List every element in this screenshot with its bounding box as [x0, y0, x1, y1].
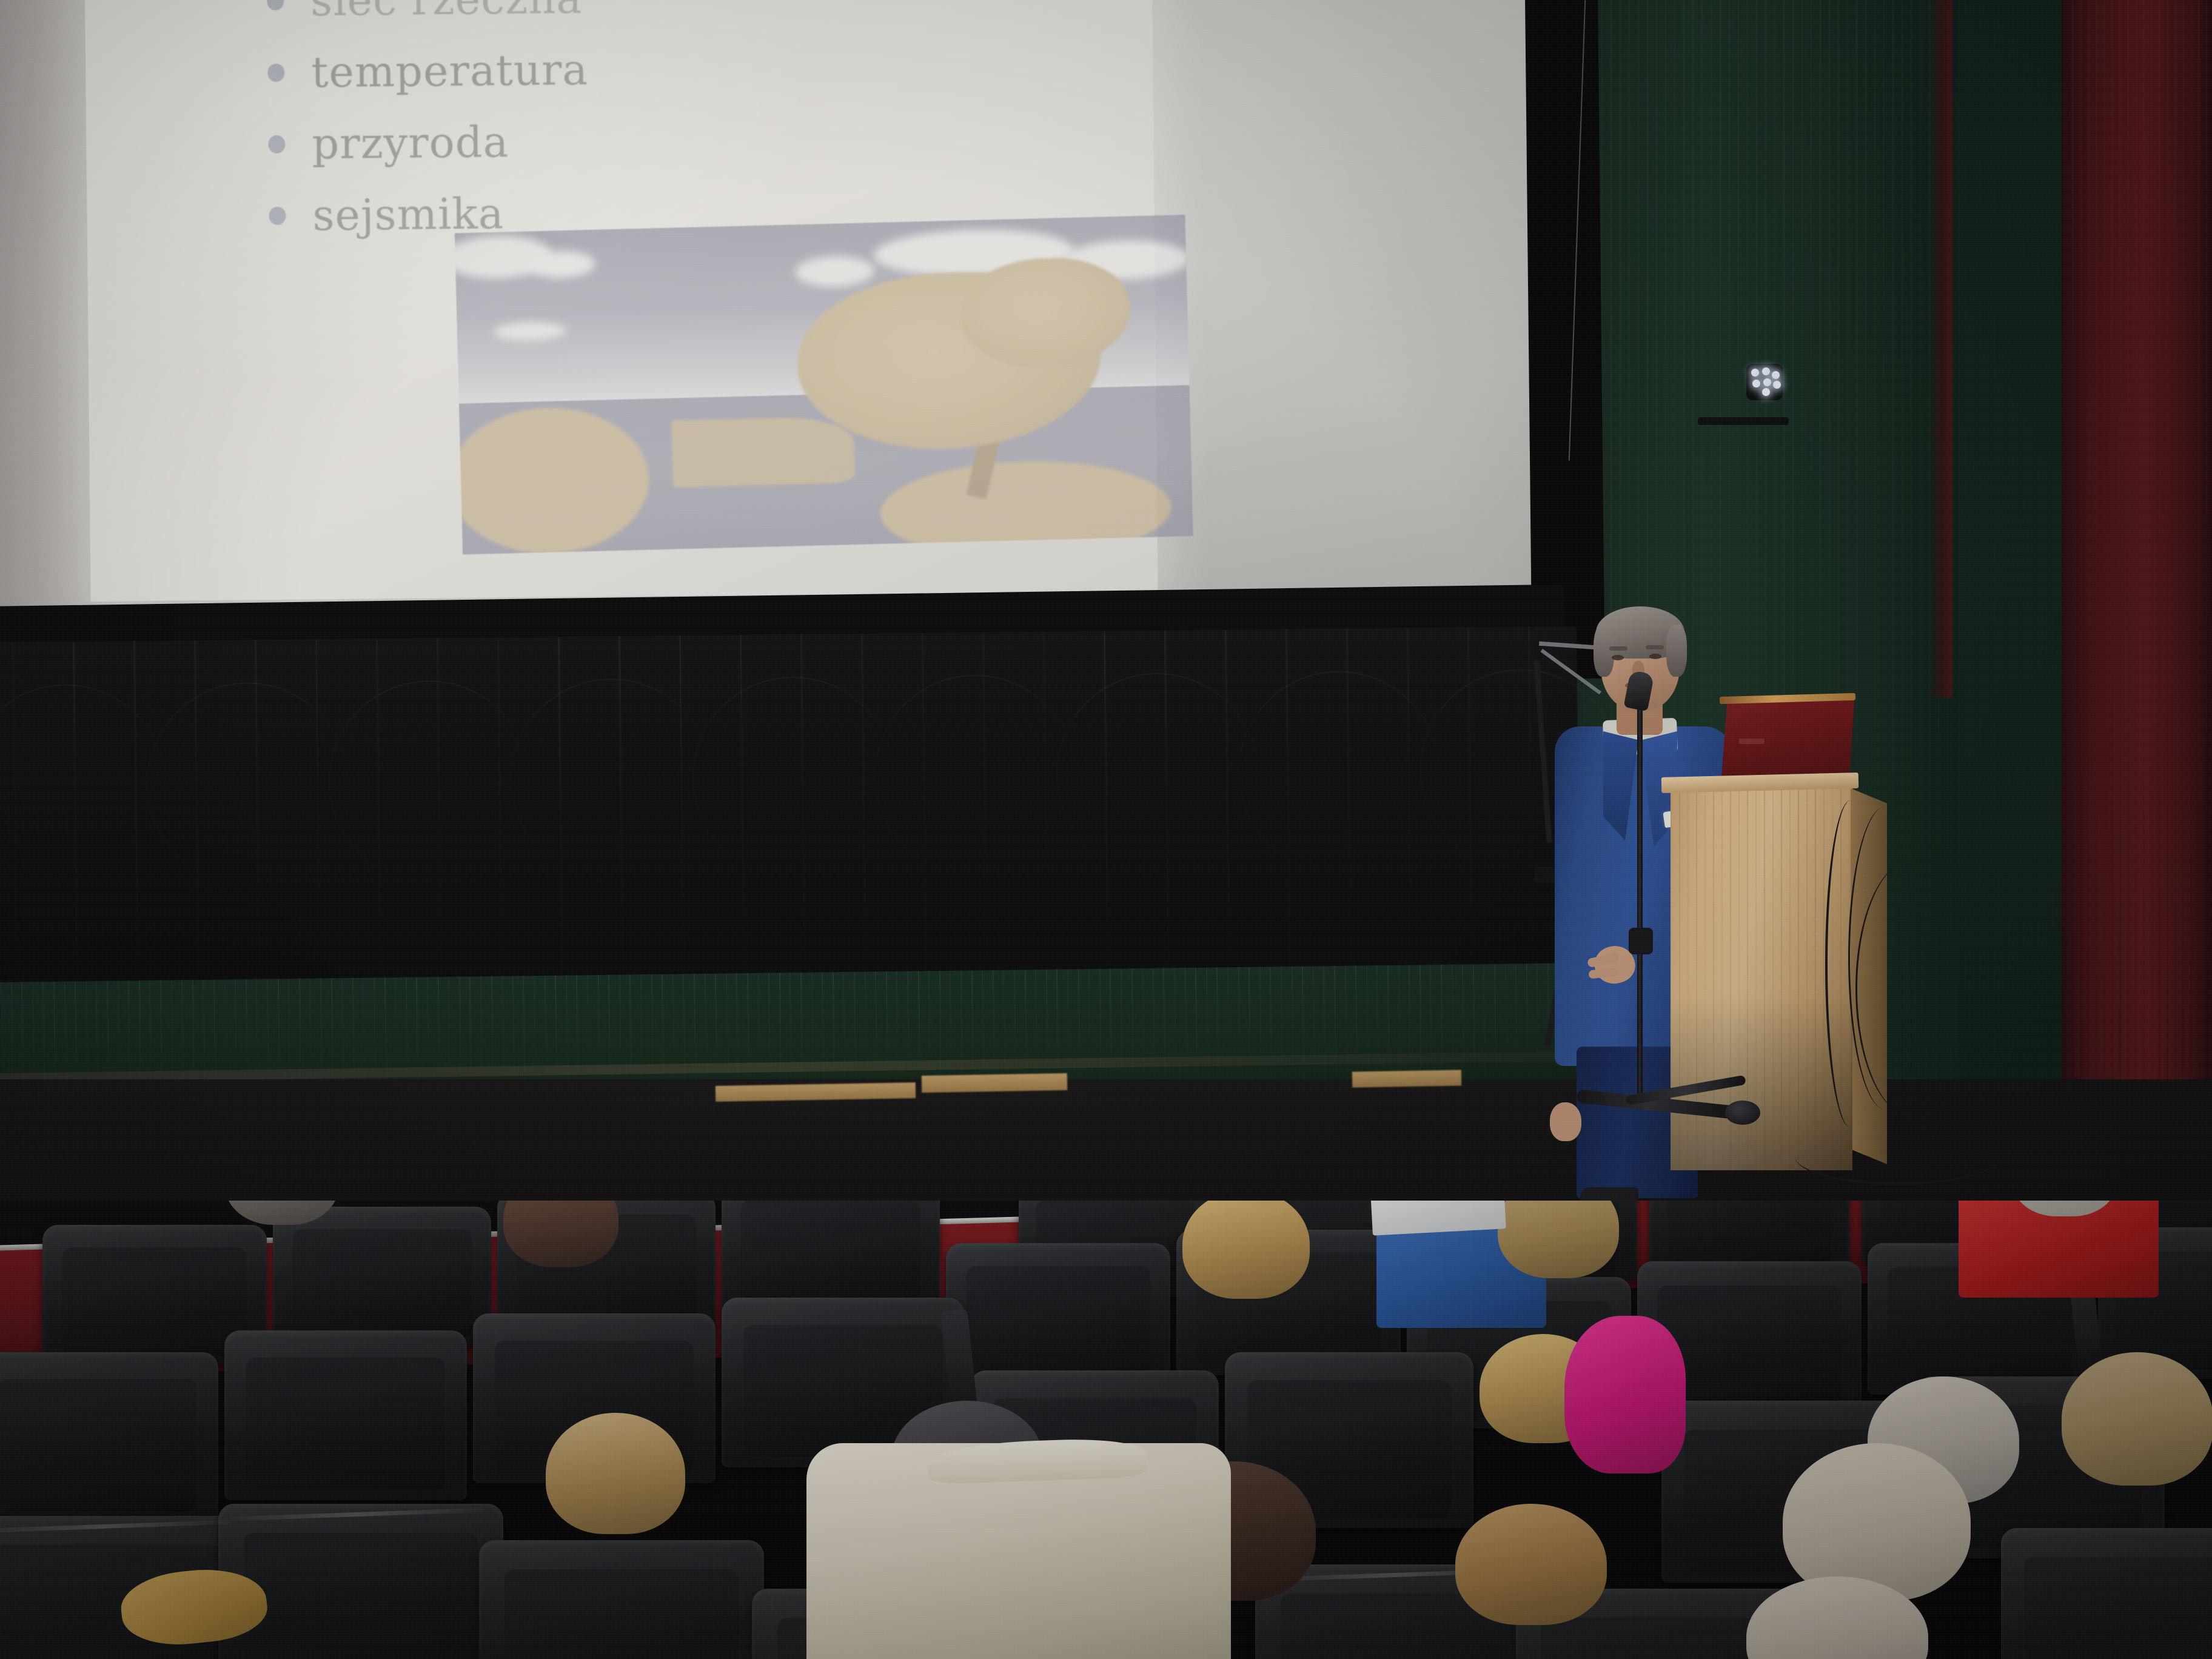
bullet-label: sejsmika [312, 189, 504, 240]
speaker-eyebrow [1609, 646, 1627, 651]
audience-pink-headscarf [1564, 1316, 1686, 1473]
audience-head [1182, 1201, 1310, 1299]
audience-head [1783, 1443, 1971, 1601]
speaker-hair-side [1666, 625, 1687, 677]
seat[interactable] [946, 1243, 1170, 1389]
texture-line [1798, 782, 1799, 1170]
list-item: temperatura [267, 31, 935, 109]
texture-line [2167, 0, 2168, 1152]
wood-plank [922, 1073, 1067, 1093]
texture-line [2072, 0, 2074, 1152]
list-item: sejsmika [269, 174, 936, 252]
speaker-eyebrow [1646, 645, 1664, 649]
light-bar [1698, 417, 1789, 425]
black-stage-drape [0, 626, 1580, 1019]
speaker-eye [1649, 654, 1661, 659]
slide-bullet-list: sieć rzeczna temperatura przyroda sejsmi… [267, 0, 936, 252]
led-lamp-icon [1752, 380, 1760, 387]
speaker-eye [1612, 655, 1624, 660]
texture-line [2088, 0, 2090, 1152]
screen-right-frame [1525, 0, 1605, 679]
speaker-lower-hand [1550, 1102, 1581, 1141]
led-lamp-icon [1762, 367, 1770, 375]
bullet-label: przyroda [312, 117, 509, 169]
texture-line [2064, 0, 2066, 1152]
audience-head [546, 1413, 685, 1534]
wood-plank [716, 1082, 916, 1102]
wood-plank [1352, 1070, 1461, 1087]
bullet-dot-icon [267, 64, 284, 82]
texture-line [2198, 0, 2200, 1152]
texture-line [2151, 0, 2153, 1152]
texture-line [2096, 0, 2097, 1152]
texture-line [2143, 0, 2145, 1152]
floor-cable [1795, 1128, 2001, 1185]
texture-line [1764, 782, 1765, 1170]
seat[interactable] [479, 1540, 764, 1659]
bullet-dot-icon [268, 135, 285, 153]
bullet-dot-icon [267, 0, 284, 10]
led-lamp-icon [1762, 388, 1770, 396]
texture-line [2206, 0, 2208, 1152]
texture-line [1772, 782, 1774, 1170]
wall-shadow [0, 0, 91, 628]
microphone-foot [1725, 1101, 1760, 1125]
seat[interactable] [273, 1207, 491, 1346]
seat[interactable] [0, 1352, 218, 1522]
audience-head [1455, 1504, 1607, 1625]
audience-head [2062, 1352, 2212, 1486]
seat[interactable] [2001, 1528, 2212, 1659]
texture-line [1815, 782, 1816, 1170]
texture-line [2119, 0, 2121, 1152]
texture-line [1823, 782, 1825, 1170]
slide-photo-headland [672, 416, 856, 488]
audience-seating [0, 1201, 2212, 1659]
drape-swag [0, 683, 167, 886]
texture-line [2182, 0, 2184, 1152]
seat[interactable] [218, 1504, 503, 1659]
auditorium-scene: sieć rzeczna temperatura przyroda sejsmi… [0, 0, 2212, 1659]
stage-light-icon [1746, 364, 1783, 400]
led-lamp-icon [1763, 378, 1771, 386]
microphone-pole [1637, 685, 1643, 1110]
bullet-dot-icon [269, 207, 286, 225]
texture-line [2159, 0, 2160, 1152]
texture-line [2190, 0, 2192, 1152]
texture-line [2174, 0, 2176, 1152]
bullet-label: temperatura [311, 45, 589, 97]
led-lamp-icon [1772, 371, 1780, 379]
texture-line [2111, 0, 2113, 1152]
laptop-logo-icon [1739, 739, 1765, 744]
texture-line [2103, 0, 2105, 1152]
speaker-hair-side [1594, 625, 1614, 677]
microphone-clamp [1629, 928, 1653, 954]
texture-line [1806, 782, 1808, 1170]
texture-line [2080, 0, 2082, 1152]
red-curtain-right [2062, 0, 2212, 1152]
red-curtain-sliver [1928, 0, 1952, 697]
led-lamp-icon [1773, 381, 1781, 389]
texture-line [2127, 0, 2129, 1152]
seat[interactable] [224, 1330, 467, 1500]
projected-slide: sieć rzeczna temperatura przyroda sejsmi… [85, 0, 1158, 602]
power-cable [1855, 861, 1966, 1116]
audience-head [503, 1201, 618, 1267]
audience-head [1498, 1201, 1619, 1278]
bullet-label: sieć rzeczna [310, 0, 583, 25]
led-lamp-icon [1751, 369, 1759, 377]
texture-line [1789, 782, 1791, 1170]
list-item: przyroda [268, 102, 936, 181]
texture-line [1781, 782, 1782, 1170]
texture-line [2135, 0, 2137, 1152]
slide-photo [455, 215, 1193, 554]
